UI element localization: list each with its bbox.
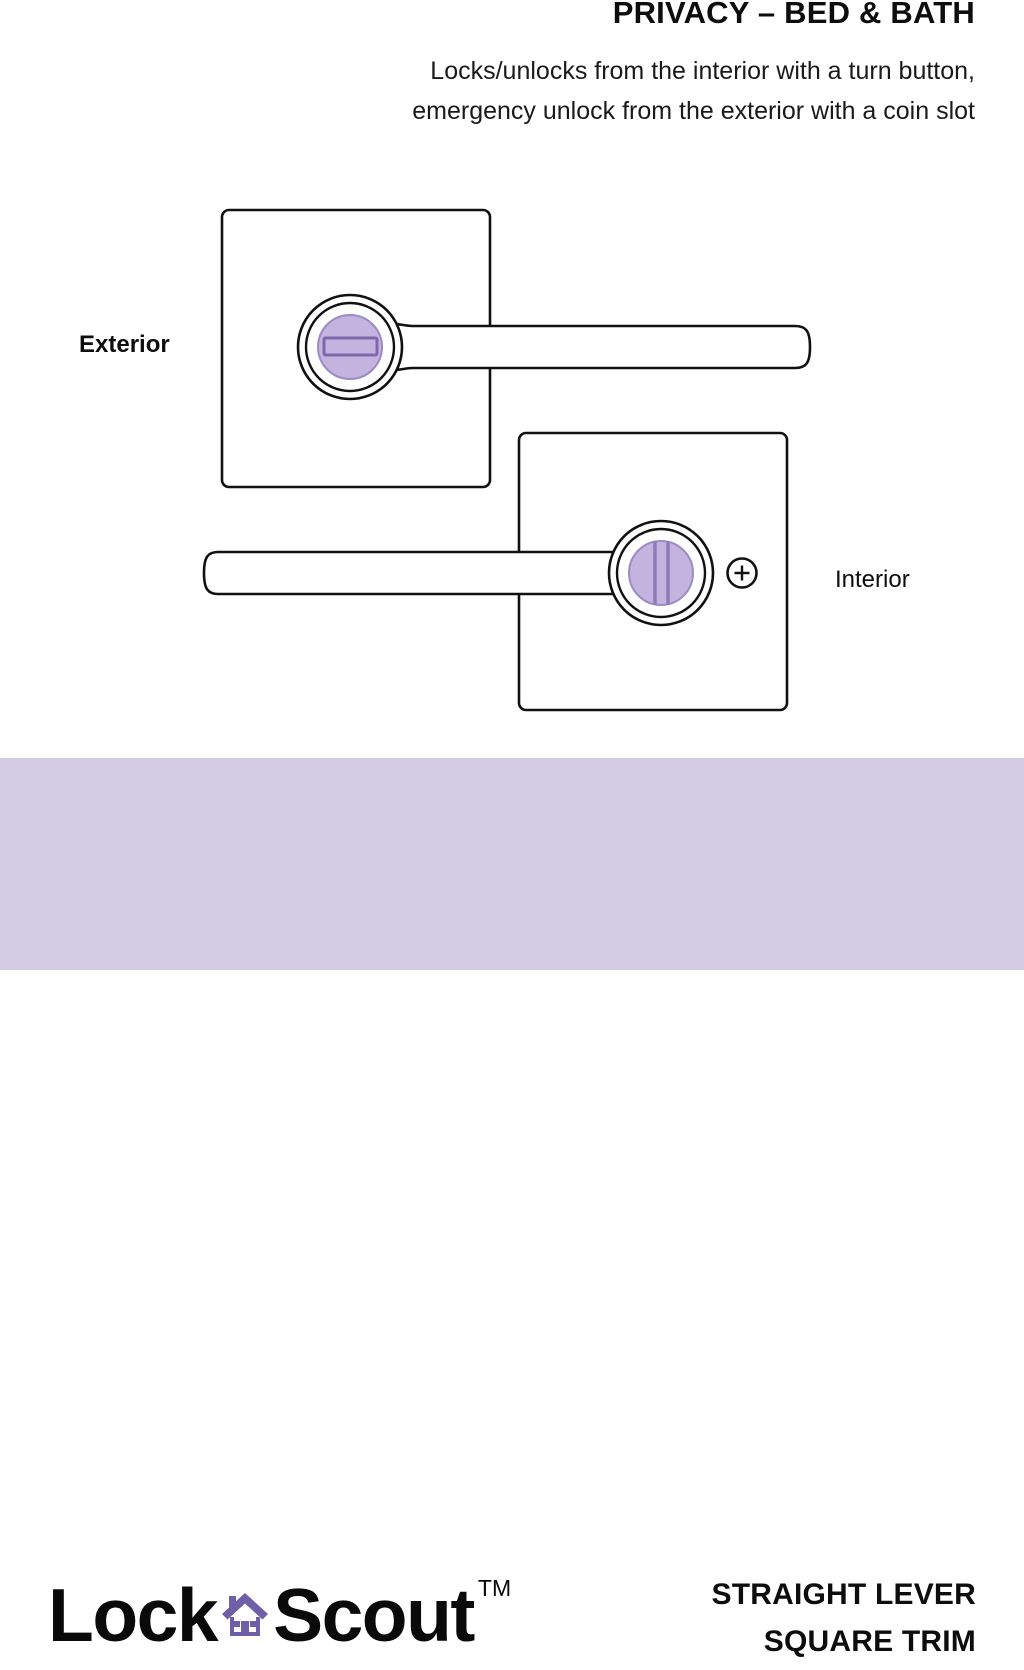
lock-diagram: Exterior Interior (0, 0, 1024, 758)
trademark-symbol: TM (478, 1577, 511, 1600)
lock-diagram-svg (0, 0, 1024, 758)
interior-lever-arm (204, 548, 659, 598)
interior-turn-button-face (629, 541, 693, 605)
interior-label: Interior (835, 566, 910, 594)
exterior-label: Exterior (79, 331, 170, 359)
brand-logo-word-scout: Scout (273, 1578, 474, 1653)
brand-logo-word-lock: Lock (48, 1578, 217, 1653)
house-icon (220, 1591, 270, 1639)
product-name-block: STRAIGHT LEVER SQUARE TRIM (556, 1571, 976, 1665)
footer-band: Lock Scout TM STRAIGHT LEVE (0, 758, 1024, 970)
product-name-line-2: SQUARE TRIM (556, 1618, 976, 1665)
coin-slot-icon (324, 338, 377, 355)
product-name-line-1: STRAIGHT LEVER (556, 1571, 976, 1618)
exterior-lever-arm (366, 322, 810, 372)
brand-logo[interactable]: Lock Scout TM (48, 1578, 507, 1670)
product-illustration-page: PRIVACY – BED & BATH Locks/unlocks from … (0, 0, 1024, 970)
